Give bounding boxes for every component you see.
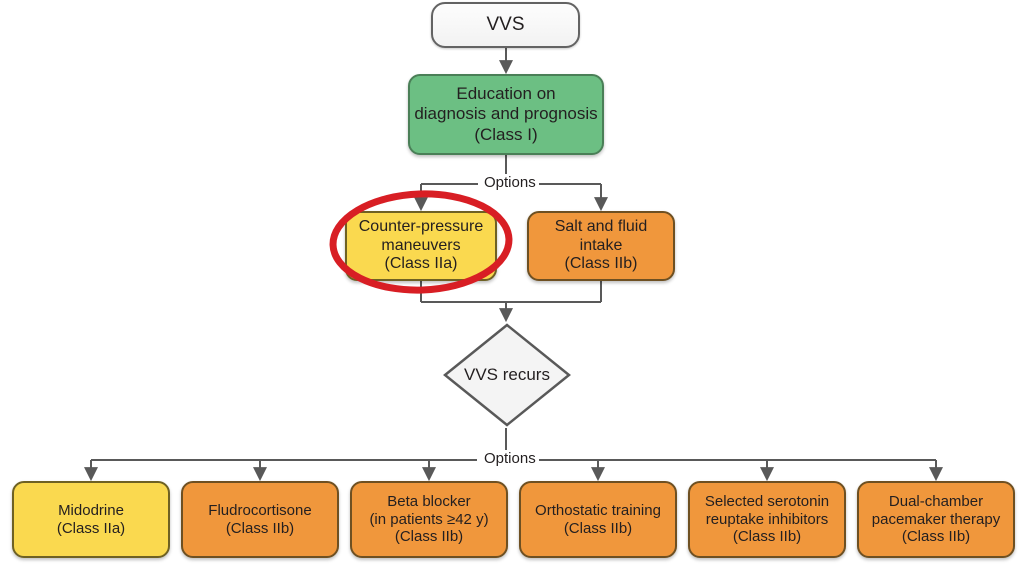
node-vvs-recurs-decision[interactable]: VVS recurs — [442, 322, 572, 428]
salt-line1: Salt and fluid — [555, 218, 648, 235]
node-therapy-ssri-label: Selected serotonin reuptake inhibitors (… — [701, 493, 833, 546]
node-therapy-orthostatic-training[interactable]: Orthostatic training (Class IIb) — [519, 481, 677, 558]
node-salt-and-fluid-intake[interactable]: Salt and fluid intake (Class IIb) — [527, 211, 675, 281]
node-therapy-orthostatic-training-label: Orthostatic training (Class IIb) — [531, 502, 665, 537]
ssri-line1: Selected serotonin — [705, 493, 829, 510]
salt-line3: (Class IIb) — [565, 255, 638, 272]
node-education-label: Education on diagnosis and prognosis (Cl… — [410, 84, 601, 144]
midodrine-line2: (Class IIa) — [57, 520, 125, 537]
node-vvs-start[interactable]: VVS — [431, 2, 580, 48]
fludrocortisone-line2: (Class IIb) — [226, 520, 294, 537]
node-vvs-recurs-label: VVS recurs — [442, 322, 572, 428]
node-therapy-midodrine[interactable]: Midodrine (Class IIa) — [12, 481, 170, 558]
node-salt-and-fluid-intake-label: Salt and fluid intake (Class IIb) — [551, 218, 652, 275]
node-education[interactable]: Education on diagnosis and prognosis (Cl… — [408, 74, 604, 155]
node-counter-pressure-maneuvers[interactable]: Counter-pressure maneuvers (Class IIa) — [345, 211, 497, 281]
node-education-line2: diagnosis and prognosis — [414, 104, 597, 123]
midodrine-line1: Midodrine — [58, 502, 124, 519]
pacemaker-line3: (Class IIb) — [902, 528, 970, 545]
pacemaker-line1: Dual-chamber — [889, 493, 983, 510]
node-therapy-beta-blocker[interactable]: Beta blocker (in patients ≥42 y) (Class … — [350, 481, 508, 558]
node-therapy-dual-chamber-pacemaker-label: Dual-chamber pacemaker therapy (Class II… — [868, 493, 1004, 546]
node-vvs-start-label: VVS — [482, 14, 528, 36]
edge-label-options-top: Options — [481, 174, 539, 191]
node-therapy-beta-blocker-label: Beta blocker (in patients ≥42 y) (Class … — [365, 493, 492, 546]
salt-line2: intake — [580, 237, 623, 254]
ssri-line2: reuptake inhibitors — [706, 511, 829, 528]
cpm-line1: Counter-pressure — [359, 218, 484, 235]
node-therapy-dual-chamber-pacemaker[interactable]: Dual-chamber pacemaker therapy (Class II… — [857, 481, 1015, 558]
node-education-line3: (Class I) — [474, 125, 537, 144]
node-therapy-fludrocortisone[interactable]: Fludrocortisone (Class IIb) — [181, 481, 339, 558]
node-counter-pressure-maneuvers-label: Counter-pressure maneuvers (Class IIa) — [355, 218, 488, 275]
ssri-line3: (Class IIb) — [733, 528, 801, 545]
node-therapy-ssri[interactable]: Selected serotonin reuptake inhibitors (… — [688, 481, 846, 558]
pacemaker-line2: pacemaker therapy — [872, 511, 1000, 528]
beta-blocker-line2: (in patients ≥42 y) — [369, 511, 488, 528]
node-therapy-fludrocortisone-label: Fludrocortisone (Class IIb) — [204, 502, 315, 537]
node-education-line1: Education on — [456, 84, 555, 103]
node-therapy-midodrine-label: Midodrine (Class IIa) — [53, 502, 129, 537]
orthostatic-line2: (Class IIb) — [564, 520, 632, 537]
cpm-line3: (Class IIa) — [385, 255, 458, 272]
flowchart-canvas: VVS Education on diagnosis and prognosis… — [0, 0, 1027, 567]
edge-label-options-bottom: Options — [481, 450, 539, 467]
orthostatic-line1: Orthostatic training — [535, 502, 661, 519]
fludrocortisone-line1: Fludrocortisone — [208, 502, 311, 519]
beta-blocker-line3: (Class IIb) — [395, 528, 463, 545]
cpm-line2: maneuvers — [381, 237, 460, 254]
beta-blocker-line1: Beta blocker — [387, 493, 470, 510]
